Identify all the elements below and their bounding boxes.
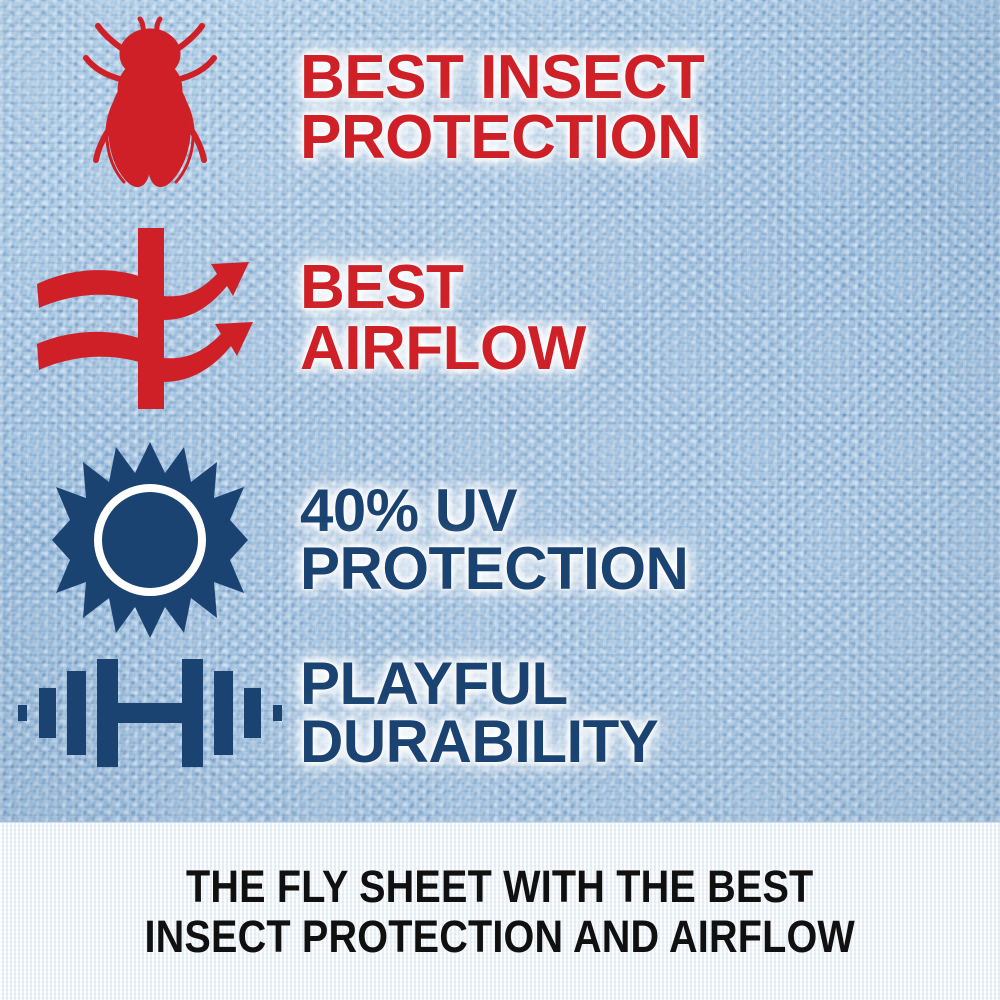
dumbbell-icon: [15, 648, 285, 778]
feature-icon-cell: [0, 440, 300, 640]
feature-label-airflow: BEST AIRFLOW: [300, 258, 586, 378]
airflow-arrows-icon: [35, 226, 265, 411]
feature-text-cell: PLAYFUL DURABILITY: [300, 655, 658, 771]
feature-row-airflow: BEST AIRFLOW: [0, 226, 586, 411]
feature-label-uv-protection: 40% UV PROTECTION: [300, 482, 688, 598]
feature-icon-cell: [0, 8, 300, 208]
feature-text-cell: BEST INSECT PROTECTION: [300, 48, 704, 168]
feature-label-insect-protection: BEST INSECT PROTECTION: [300, 48, 704, 168]
feature-row-uv-protection: 40% UV PROTECTION: [0, 440, 688, 640]
banner-headline: THE FLY SHEET WITH THE BEST INSECT PROTE…: [145, 862, 856, 963]
feature-text-cell: 40% UV PROTECTION: [300, 482, 688, 598]
fly-icon: [60, 8, 240, 208]
sun-icon: [50, 440, 250, 640]
feature-row-insect-protection: BEST INSECT PROTECTION: [0, 8, 704, 208]
product-feature-infographic: BEST INSECT PROTECTION: [0, 0, 1000, 1000]
bottom-banner: THE FLY SHEET WITH THE BEST INSECT PROTE…: [0, 822, 1000, 1000]
feature-row-durability: PLAYFUL DURABILITY: [0, 648, 658, 778]
feature-icon-cell: [0, 226, 300, 411]
feature-label-durability: PLAYFUL DURABILITY: [300, 655, 658, 771]
feature-text-cell: BEST AIRFLOW: [300, 258, 586, 378]
feature-icon-cell: [0, 648, 300, 778]
feature-list: BEST INSECT PROTECTION: [0, 0, 1000, 822]
